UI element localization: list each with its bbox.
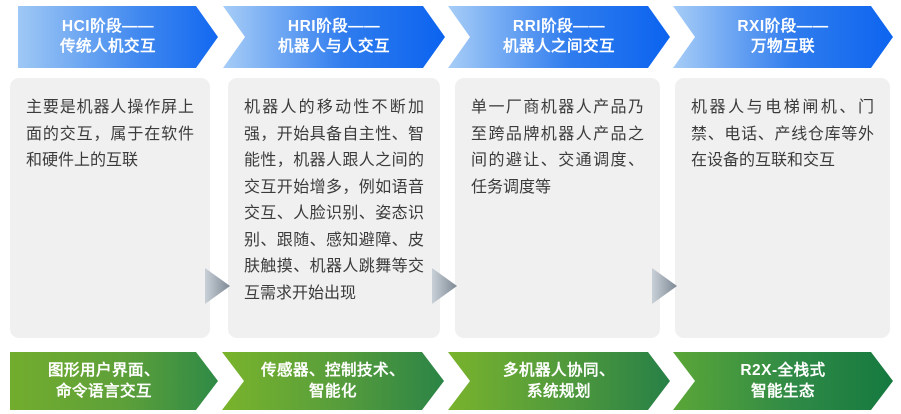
stage-body-rri: 单一厂商机器人产品乃至跨品牌机器人产品之间的避让、交通调度、任务调度等: [455, 78, 660, 338]
stage-footer-rxi-line1: R2X-全栈式: [740, 360, 825, 381]
stage-header-hci[interactable]: HCI阶段—— 传统人机交互: [18, 6, 218, 68]
stage-footer-hci-line2: 命令语言交互: [56, 381, 152, 402]
stage-footer-rri-line2: 系统规划: [527, 381, 591, 402]
stage-footer-hci[interactable]: 图形用户界面、 命令语言交互: [10, 352, 218, 410]
stage-footer-rri[interactable]: 多机器人协同、 系统规划: [448, 352, 670, 410]
stage-header-rxi-line1: RXI阶段——: [737, 17, 828, 37]
stage-footer-hri-line2: 智能化: [309, 381, 357, 402]
stage-header-hri-line2: 机器人与人交互: [278, 37, 390, 57]
stage-body-hci-text: 主要是机器人操作屏上面的交互，属于在软件和硬件上的互联: [26, 94, 194, 174]
flow-arrow-1: [205, 266, 231, 306]
stage-header-hri[interactable]: HRI阶段—— 机器人与人交互: [223, 6, 445, 68]
triangle-right-icon: [205, 266, 231, 306]
stage-body-row: 主要是机器人操作屏上面的交互，属于在软件和硬件上的互联 机器人的移动性不断加强，…: [0, 78, 901, 338]
stage-footer-rxi-line2: 智能生态: [751, 381, 815, 402]
stage-footer-hci-line1: 图形用户界面、: [48, 360, 160, 381]
stage-body-rxi-text: 机器人与电梯闸机、门禁、电话、产线仓库等外在设备的互联和交互: [691, 94, 874, 174]
stage-body-rxi: 机器人与电梯闸机、门禁、电话、产线仓库等外在设备的互联和交互: [675, 78, 890, 338]
flow-arrow-3: [652, 266, 678, 306]
stage-header-rxi-line2: 万物互联: [751, 37, 815, 57]
stage-roadmap-diagram: HCI阶段—— 传统人机交互 HRI阶段—— 机器人与人交互 RRI阶段—— 机…: [0, 0, 901, 414]
stage-footer-hri[interactable]: 传感器、控制技术、 智能化: [222, 352, 444, 410]
stage-footer-rri-line1: 多机器人协同、: [503, 360, 615, 381]
stage-body-rri-text: 单一厂商机器人产品乃至跨品牌机器人产品之间的避让、交通调度、任务调度等: [471, 94, 644, 200]
stage-header-rri-line2: 机器人之间交互: [503, 37, 615, 57]
triangle-right-icon: [432, 266, 458, 306]
stage-header-rxi[interactable]: RXI阶段—— 万物互联: [673, 6, 893, 68]
stage-footer-hri-line1: 传感器、控制技术、: [261, 360, 405, 381]
stage-header-rri-line1: RRI阶段——: [513, 17, 605, 37]
stage-header-hci-line2: 传统人机交互: [60, 37, 156, 57]
stage-footer-row: 图形用户界面、 命令语言交互 传感器、控制技术、 智能化 多机器人协同、 系统规…: [0, 352, 901, 410]
stage-header-hri-line1: HRI阶段——: [288, 17, 380, 37]
stage-body-hci: 主要是机器人操作屏上面的交互，属于在软件和硬件上的互联: [10, 78, 210, 338]
stage-header-hci-line1: HCI阶段——: [62, 17, 154, 37]
flow-arrow-2: [432, 266, 458, 306]
stage-body-hri: 机器人的移动性不断加强，开始具备自主性、智能性，机器人跟人之间的交互开始增多，例…: [228, 78, 440, 338]
stage-header-row: HCI阶段—— 传统人机交互 HRI阶段—— 机器人与人交互 RRI阶段—— 机…: [0, 6, 901, 68]
stage-body-hri-text: 机器人的移动性不断加强，开始具备自主性、智能性，机器人跟人之间的交互开始增多，例…: [244, 94, 424, 306]
triangle-right-icon: [652, 266, 678, 306]
stage-header-rri[interactable]: RRI阶段—— 机器人之间交互: [448, 6, 670, 68]
stage-footer-rxi[interactable]: R2X-全栈式 智能生态: [673, 352, 893, 410]
